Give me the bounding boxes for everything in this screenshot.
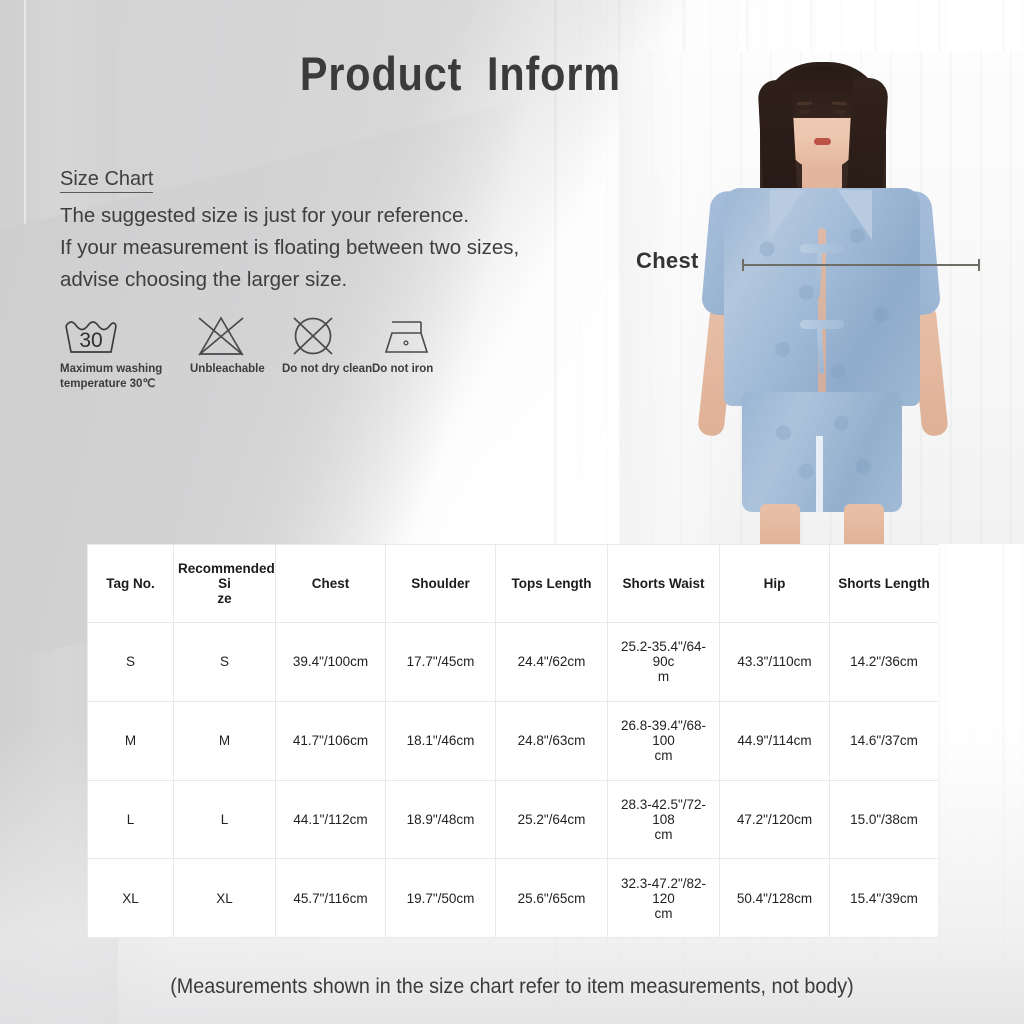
cell-tag-no: XL [88,859,174,938]
table-row: XL XL 45.7"/116cm 19.7"/50cm 25.6"/65cm … [88,859,939,938]
cell-hip: 47.2"/120cm [720,780,830,859]
table-row: M M 41.7"/106cm 18.1"/46cm 24.8"/63cm 26… [88,701,939,780]
cell-tag-no: L [88,780,174,859]
measurement-disclaimer: (Measurements shown in the size chart re… [31,975,994,999]
measure-bar [742,264,980,266]
table-header-row: Tag No. Recommended Si ze Chest Shoulder… [88,545,939,623]
table-row: S S 39.4"/100cm 17.7"/45cm 24.4"/62cm 25… [88,623,939,702]
column-header-shorts-waist: Shorts Waist [608,545,720,623]
care-symbol-iron: Do not iron [372,312,477,377]
cell-shorts-length: 15.0"/38cm [830,780,939,859]
cell-recommended-size: S [174,623,276,702]
chest-measure-label: Chest [636,248,699,274]
cell-shoulder: 18.9"/48cm [386,780,496,859]
column-header-hip: Hip [720,545,830,623]
cell-recommended-size: L [174,780,276,859]
column-header-shorts-length: Shorts Length [830,545,939,623]
column-header-tops-length: Tops Length [496,545,608,623]
size-chart-note-line-1: The suggested size is just for your refe… [60,200,600,232]
bow-upper [800,244,844,253]
cell-shorts-waist: 28.3-42.5"/72-108 cm [608,780,720,859]
size-chart-heading: Size Chart [60,168,153,193]
cell-hip: 44.9"/114cm [720,701,830,780]
cell-shorts-waist: 25.2-35.4"/64-90c m [608,623,720,702]
cell-chest: 39.4"/100cm [276,623,386,702]
cell-shorts-waist: 26.8-39.4"/68-100 cm [608,701,720,780]
size-chart-note-line-3: advise choosing the larger size. [60,264,600,296]
cell-recommended-size: XL [174,859,276,938]
no-dry-clean-icon [282,312,344,358]
cell-chest: 44.1"/112cm [276,780,386,859]
model-photo: Chest [620,52,1024,544]
cell-shoulder: 17.7"/45cm [386,623,496,702]
collar-right [838,190,872,240]
care-symbol-wash: 30 Maximum washing temperature 30℃ [60,312,185,392]
care-caption-iron: Do not iron [372,362,477,377]
cell-tops-length: 24.4"/62cm [496,623,608,702]
no-iron-icon [372,312,434,358]
cell-tops-length: 25.6"/65cm [496,859,608,938]
care-symbol-bleach: Unbleachable [190,312,285,377]
cell-shoulder: 19.7"/50cm [386,859,496,938]
table-row: L L 44.1"/112cm 18.9"/48cm 25.2"/64cm 28… [88,780,939,859]
wash-tub-30-icon: 30 [60,312,122,358]
chest-measure-line [742,259,980,271]
cell-chest: 41.7"/106cm [276,701,386,780]
cell-shorts-waist: 32.3-47.2"/82-120 cm [608,859,720,938]
cell-tag-no: M [88,701,174,780]
size-chart-table: Tag No. Recommended Si ze Chest Shoulder… [87,544,938,938]
column-header-shoulder: Shoulder [386,545,496,623]
cell-hip: 50.4"/128cm [720,859,830,938]
shorts-inseam [816,436,823,512]
eye-right [834,110,845,114]
size-chart-note: Size Chart The suggested size is just fo… [60,168,600,296]
care-symbols-row: 30 Maximum washing temperature 30℃ Unble… [60,312,530,404]
cell-tops-length: 24.8"/63cm [496,701,608,780]
cell-shorts-length: 14.2"/36cm [830,623,939,702]
column-header-chest: Chest [276,545,386,623]
cell-tag-no: S [88,623,174,702]
cell-hip: 43.3"/110cm [720,623,830,702]
lips [814,138,831,145]
column-header-recommended-size: Recommended Si ze [174,545,276,623]
cell-tops-length: 25.2"/64cm [496,780,608,859]
wash-temperature-value: 30 [79,329,102,352]
no-bleach-icon [190,312,252,358]
collar-left [770,190,804,240]
cell-shorts-length: 14.6"/37cm [830,701,939,780]
column-header-tag-no: Tag No. [88,545,174,623]
product-information-page: Product Information Size Chart The sugge… [0,0,1024,1024]
leg-left [760,504,800,544]
eye-left [799,110,810,114]
cell-shoulder: 18.1"/46cm [386,701,496,780]
cell-chest: 45.7"/116cm [276,859,386,938]
cell-shorts-length: 15.4"/39cm [830,859,939,938]
measure-end-right [978,259,980,271]
model-figure [620,52,1024,544]
bow-lower [800,320,844,329]
size-chart-note-line-2: If your measurement is floating between … [60,232,600,264]
care-caption-bleach: Unbleachable [190,362,285,377]
care-caption-wash: Maximum washing temperature 30℃ [60,362,185,392]
leg-right [844,504,884,544]
cell-recommended-size: M [174,701,276,780]
